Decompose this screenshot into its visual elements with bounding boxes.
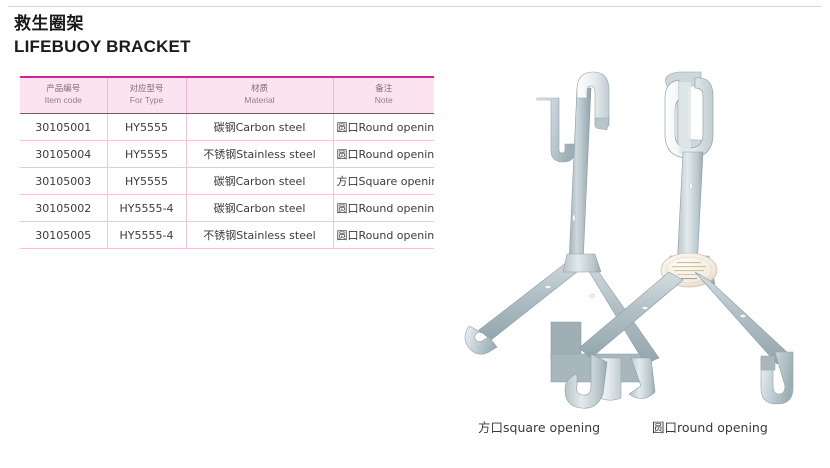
round-right-arm-hook-flange (761, 356, 775, 370)
cell-note: 圆口Round opening (333, 114, 434, 141)
column-header-item-code-en: Item code (22, 95, 105, 106)
square-cradle-left-wall (551, 322, 581, 358)
column-header-material: 材质 Material (186, 77, 333, 114)
column-header-item-code: 产品编号 Item code (20, 77, 107, 114)
cell-for-type: HY5555 (107, 114, 186, 141)
lifebuoy-bracket-illustration (455, 58, 830, 418)
table-header-row: 产品编号 Item code 对应型号 For Type 材质 Material… (20, 77, 434, 114)
column-header-material-en: Material (189, 95, 331, 106)
column-header-material-cn: 材质 (189, 84, 331, 95)
square-main-spine (569, 88, 591, 263)
column-header-note: 备注 Note (333, 77, 434, 114)
column-header-note-en: Note (336, 95, 433, 106)
cell-note: 圆口Round opening (333, 141, 434, 168)
table-header: 产品编号 Item code 对应型号 For Type 材质 Material… (20, 77, 434, 114)
table-row: 30105005 HY5555-4 不锈钢Stainless steel 圆口R… (20, 222, 434, 249)
column-header-for-type-cn: 对应型号 (110, 84, 184, 95)
page-title-english: LIFEBUOY BRACKET (14, 36, 434, 57)
cell-for-type: HY5555 (107, 168, 186, 195)
cell-for-type: HY5555-4 (107, 222, 186, 249)
cell-note: 圆口Round opening (333, 222, 434, 249)
column-header-for-type-en: For Type (110, 95, 184, 106)
round-left-arm-hole (642, 306, 648, 309)
table-row: 30105002 HY5555-4 碳钢Carbon steel 圆口Round… (20, 195, 434, 222)
page-title: 救生圈架 LIFEBUOY BRACKET (14, 14, 434, 57)
square-junction-plate (563, 254, 601, 272)
cell-for-type: HY5555 (107, 141, 186, 168)
page-title-chinese: 救生圈架 (14, 14, 434, 35)
column-header-note-cn: 备注 (336, 84, 433, 95)
square-upper-left-hook (537, 98, 575, 162)
cell-item-code: 30105002 (20, 195, 107, 222)
cell-item-code: 30105005 (20, 222, 107, 249)
table-row: 30105001 HY5555 碳钢Carbon steel 圆口Round o… (20, 114, 434, 141)
cell-material: 碳钢Carbon steel (186, 195, 333, 222)
column-header-item-code-cn: 产品编号 (22, 84, 105, 95)
table-row: 30105004 HY5555 不锈钢Stainless steel 圆口Rou… (20, 141, 434, 168)
cell-item-code: 30105004 (20, 141, 107, 168)
cell-material: 不锈钢Stainless steel (186, 141, 333, 168)
round-hook-throat (679, 82, 691, 154)
round-main-spine (677, 152, 703, 268)
column-header-for-type: 对应型号 For Type (107, 77, 186, 114)
top-divider (8, 6, 822, 7)
round-spine-hole (689, 183, 692, 189)
caption-round-opening: 圆口round opening (652, 417, 768, 436)
caption-square-opening: 方口square opening (478, 417, 600, 436)
round-left-arm (579, 272, 683, 358)
table-row: 30105003 HY5555 碳钢Carbon steel 方口Square … (20, 168, 434, 195)
cell-material: 碳钢Carbon steel (186, 168, 333, 195)
cell-note: 圆口Round opening (333, 195, 434, 222)
specification-table: 产品编号 Item code 对应型号 For Type 材质 Material… (20, 76, 434, 249)
product-photo (455, 58, 830, 418)
square-top-hook-tip (595, 118, 609, 130)
table-body: 30105001 HY5555 碳钢Carbon steel 圆口Round o… (20, 114, 434, 249)
square-left-arm-hole (545, 285, 551, 288)
square-spine-hole (572, 215, 575, 221)
cell-item-code: 30105001 (20, 114, 107, 141)
bracket-square-opening (465, 72, 659, 400)
square-right-arm-hole (589, 294, 595, 297)
round-right-arm (695, 272, 789, 364)
cell-note: 方口Square opening (333, 168, 434, 195)
cell-material: 碳钢Carbon steel (186, 114, 333, 141)
cell-item-code: 30105003 (20, 168, 107, 195)
cell-for-type: HY5555-4 (107, 195, 186, 222)
cell-material: 不锈钢Stainless steel (186, 222, 333, 249)
round-right-arm-hole (740, 314, 746, 317)
